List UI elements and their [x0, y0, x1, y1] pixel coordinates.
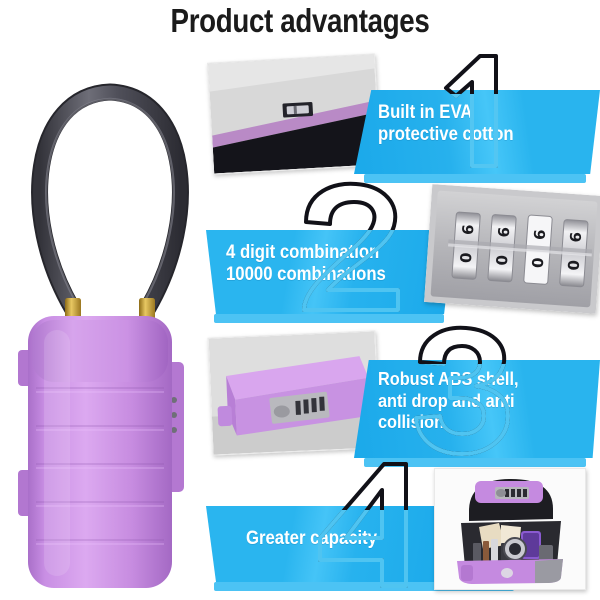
feature-1-line-2: protective cotton [378, 124, 580, 146]
eva-cotton-closeup-photo [207, 53, 381, 174]
feature-3-line-2: anti drop and anti [378, 390, 582, 412]
svg-text:0: 0 [564, 259, 583, 271]
feature-1-line-1: Built in EVA [378, 102, 580, 124]
open-case-with-valuables-photo [434, 468, 586, 590]
feature-2-line-1: 4 digit combination [226, 242, 437, 264]
feature-2-panel-shadow [214, 314, 444, 323]
feature-1-text: Built in EVA protective cotton [378, 102, 580, 146]
svg-text:0: 0 [528, 257, 547, 269]
feature-2-text: 4 digit combination 10000 combinations [226, 242, 437, 286]
feature-2-line-2: 10000 combinations [226, 264, 437, 286]
feature-row-2: 4 digit combination 10000 combinations [206, 186, 600, 326]
feature-4-line-1: Greater capacity [246, 528, 440, 550]
four-dial-combination-photo: 9 9 9 9 0 0 0 0 [424, 184, 600, 314]
feature-3-text: Robust ABS shell, anti drop and anti col… [378, 368, 582, 433]
feature-row-3: Robust ABS shell, anti drop and anti col… [206, 328, 600, 470]
svg-text:9: 9 [494, 226, 513, 238]
feature-3-line-3: collision [378, 411, 582, 433]
feature-row-1: Built in EVA protective cotton [206, 52, 600, 184]
svg-text:9: 9 [458, 224, 477, 236]
abs-shell-case-photo [208, 330, 381, 455]
svg-text:9: 9 [566, 231, 585, 243]
feature-4-text: Greater capacity [246, 528, 440, 550]
feature-1-panel-shadow [364, 174, 586, 183]
svg-text:0: 0 [492, 254, 511, 266]
product-advantages-infographic: Product advantages [0, 0, 600, 600]
svg-text:9: 9 [530, 229, 549, 241]
page-title: Product advantages [48, 2, 552, 40]
svg-text:0: 0 [456, 252, 475, 264]
hero-product-image [10, 40, 210, 600]
feature-3-line-1: Robust ABS shell, [378, 368, 582, 390]
feature-row-4: Greater capacity [206, 466, 600, 598]
